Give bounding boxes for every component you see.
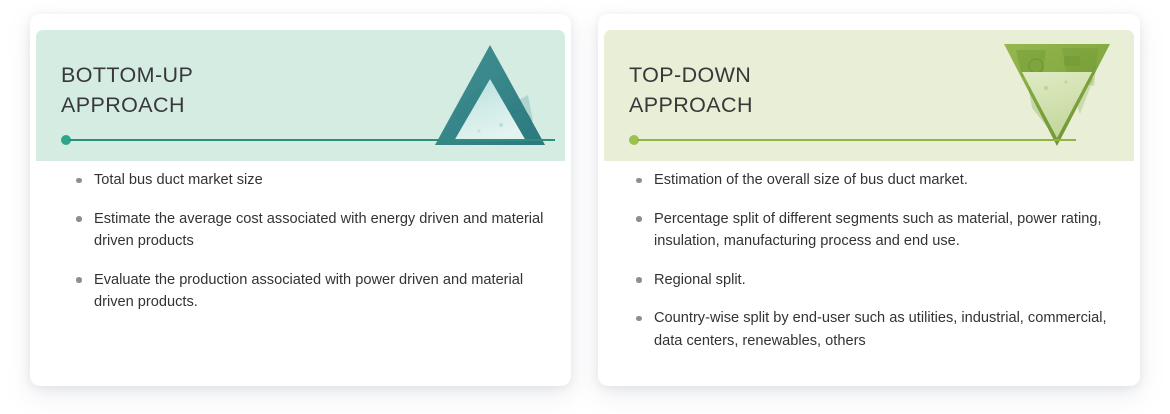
list-item-text: Country-wise split by end-user such as u… (654, 310, 1107, 349)
list-item-text: Estimation of the overall size of bus du… (654, 172, 968, 188)
diagram-stage: BOTTOM-UP APPROACH (0, 0, 1170, 414)
divider-line (637, 139, 1076, 141)
bullet-dot-icon (76, 277, 82, 283)
list-item: Country-wise split by end-user such as u… (618, 307, 1116, 352)
list-item-text: Estimate the average cost associated wit… (94, 211, 543, 250)
card-divider-top-down (629, 134, 1076, 146)
bullet-dot-icon (636, 178, 642, 184)
list-item: Evaluate the production associated with … (58, 269, 549, 314)
list-item: Percentage split of different segments s… (618, 208, 1116, 253)
bullet-dot-icon (76, 216, 82, 222)
list-item: Estimate the average cost associated wit… (58, 208, 549, 253)
list-item-text: Evaluate the production associated with … (94, 272, 523, 311)
bullet-dot-icon (76, 178, 82, 184)
list-item: Regional split. (618, 269, 1116, 292)
bullet-list-bottom-up: Total bus duct market size Estimate the … (58, 169, 549, 330)
card-divider-bottom-up (61, 134, 555, 146)
card-header-bottom-up: BOTTOM-UP APPROACH (36, 30, 565, 161)
bullet-list-top-down: Estimation of the overall size of bus du… (618, 169, 1116, 368)
divider-line (69, 139, 555, 141)
list-item: Total bus duct market size (58, 169, 549, 192)
bullet-dot-icon (636, 216, 642, 222)
list-item-text: Total bus duct market size (94, 172, 263, 188)
approach-card-bottom-up: BOTTOM-UP APPROACH (30, 14, 571, 386)
bullet-dot-icon (636, 277, 642, 283)
list-item: Estimation of the overall size of bus du… (618, 169, 1116, 192)
card-title-top-down: TOP-DOWN APPROACH (629, 60, 753, 120)
triangle-up-icon (433, 43, 547, 147)
bullet-dot-icon (636, 316, 642, 322)
list-item-text: Regional split. (654, 272, 746, 288)
card-header-top-down: TOP-DOWN APPROACH (604, 30, 1134, 161)
list-item-text: Percentage split of different segments s… (654, 211, 1102, 250)
card-title-bottom-up: BOTTOM-UP APPROACH (61, 60, 193, 120)
triangle-down-icon (1002, 42, 1112, 148)
approach-card-top-down: TOP-DOWN APPROACH (598, 14, 1140, 386)
